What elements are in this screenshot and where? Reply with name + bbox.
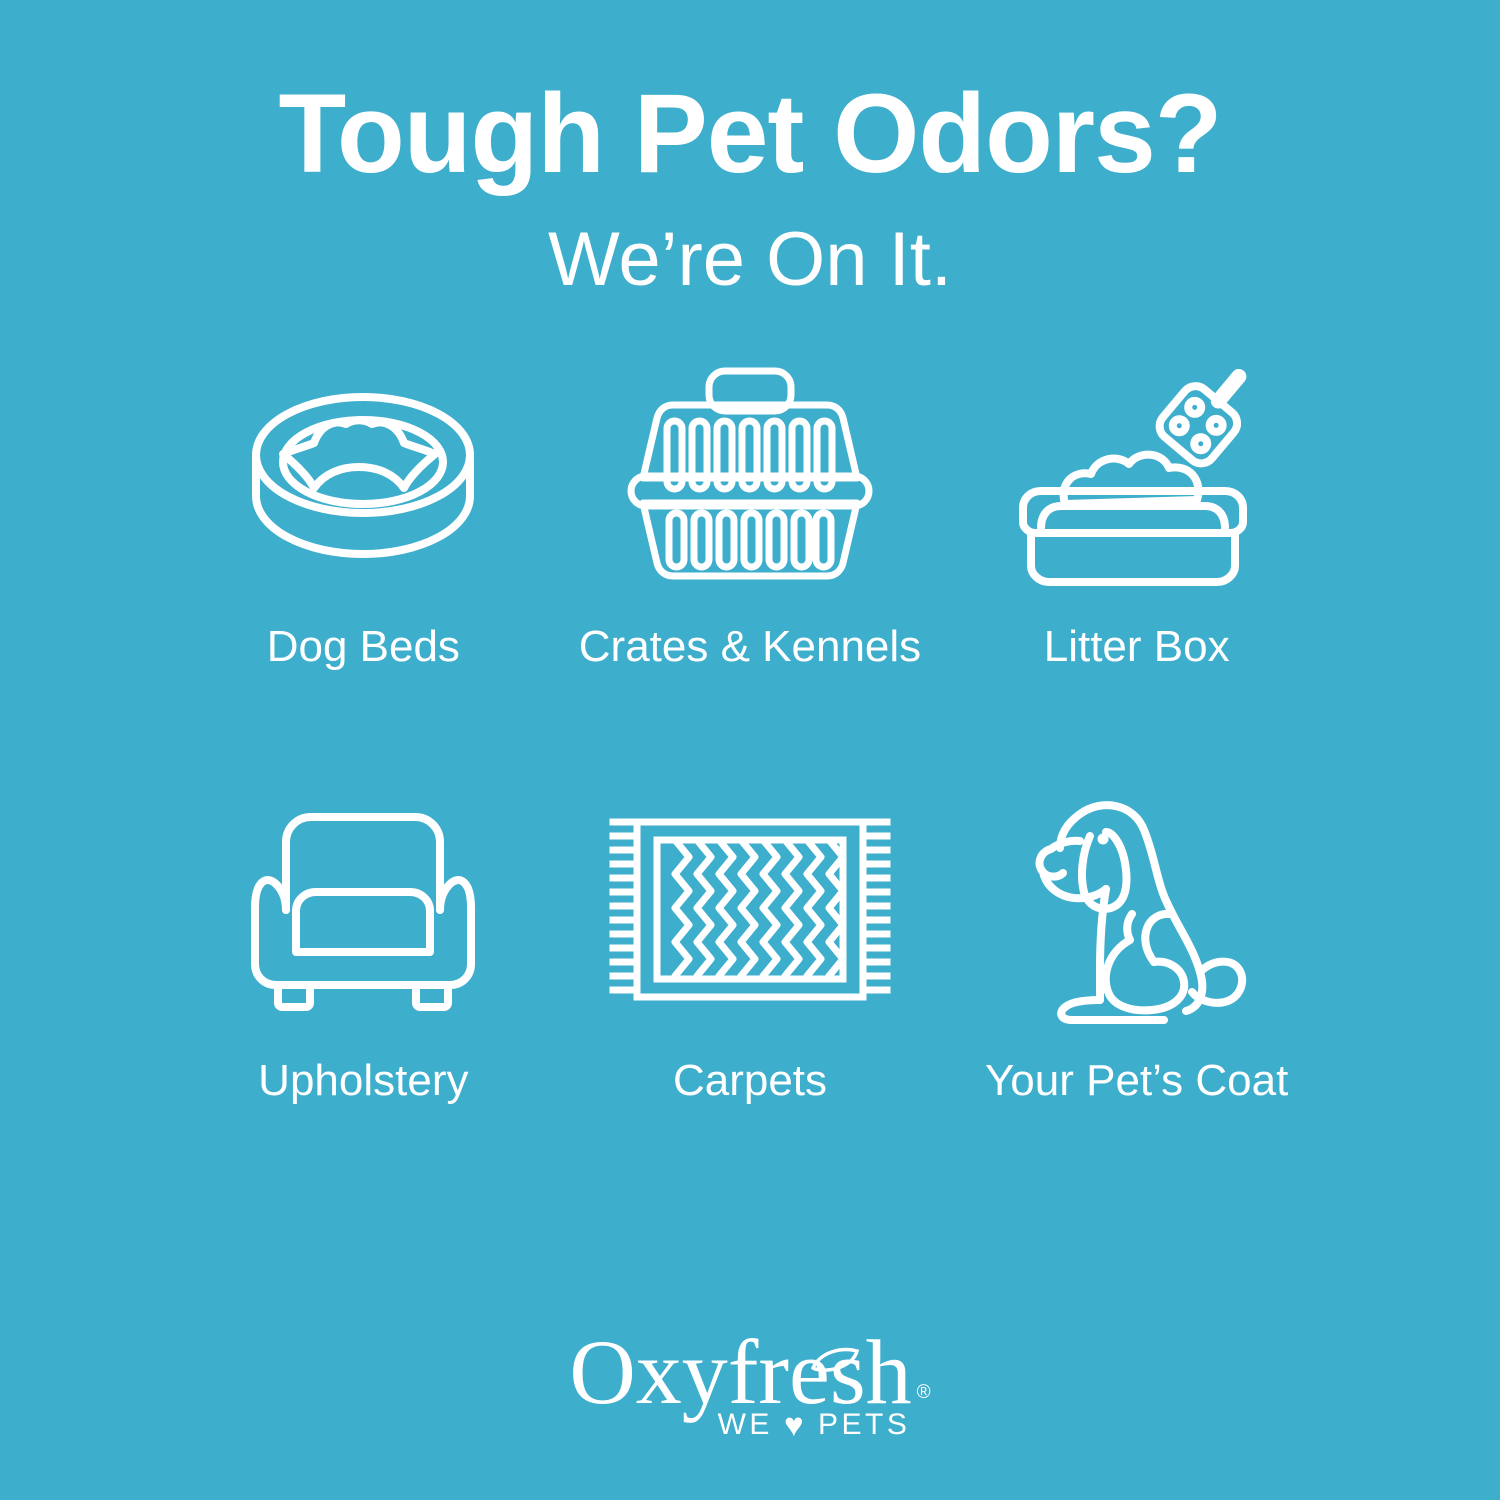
logo-wordmark: Oxyfresh ® [569,1329,930,1416]
dog-bed-icon [213,350,513,600]
armchair-icon [213,784,513,1034]
logo-text: Oxyfresh [569,1329,911,1416]
registered-trademark-icon: ® [917,1383,931,1402]
category-label: Crates & Kennels [579,622,921,672]
page-title: Tough Pet Odors? [8,78,1493,190]
header: Tough Pet Odors? We’re On It. [0,0,1500,298]
brand-logo: Oxyfresh ® WE ♥ PETS [0,1329,1500,1442]
poster: Tough Pet Odors? We’re On It. Dog Beds [0,0,1500,1500]
sitting-dog-icon [987,784,1287,1034]
pet-carrier-icon [600,350,900,600]
category-label: Carpets [673,1056,827,1106]
category-grid: Dog Beds [170,298,1330,1106]
category-item-upholstery: Upholstery [170,784,557,1106]
litter-box-icon [987,350,1287,600]
category-label: Upholstery [258,1056,468,1106]
heart-icon: ♥ [784,1408,807,1441]
category-item-crates-kennels: Crates & Kennels [557,350,944,672]
page-subtitle: We’re On It. [0,222,1500,298]
category-label: Your Pet’s Coat [985,1056,1288,1106]
category-item-litter-box: Litter Box [943,350,1330,672]
category-label: Litter Box [1044,622,1230,672]
category-item-carpets: Carpets [557,784,944,1106]
rug-icon [600,784,900,1034]
category-item-pet-coat: Your Pet’s Coat [943,784,1330,1106]
category-label: Dog Beds [267,622,460,672]
category-item-dog-beds: Dog Beds [170,350,557,672]
